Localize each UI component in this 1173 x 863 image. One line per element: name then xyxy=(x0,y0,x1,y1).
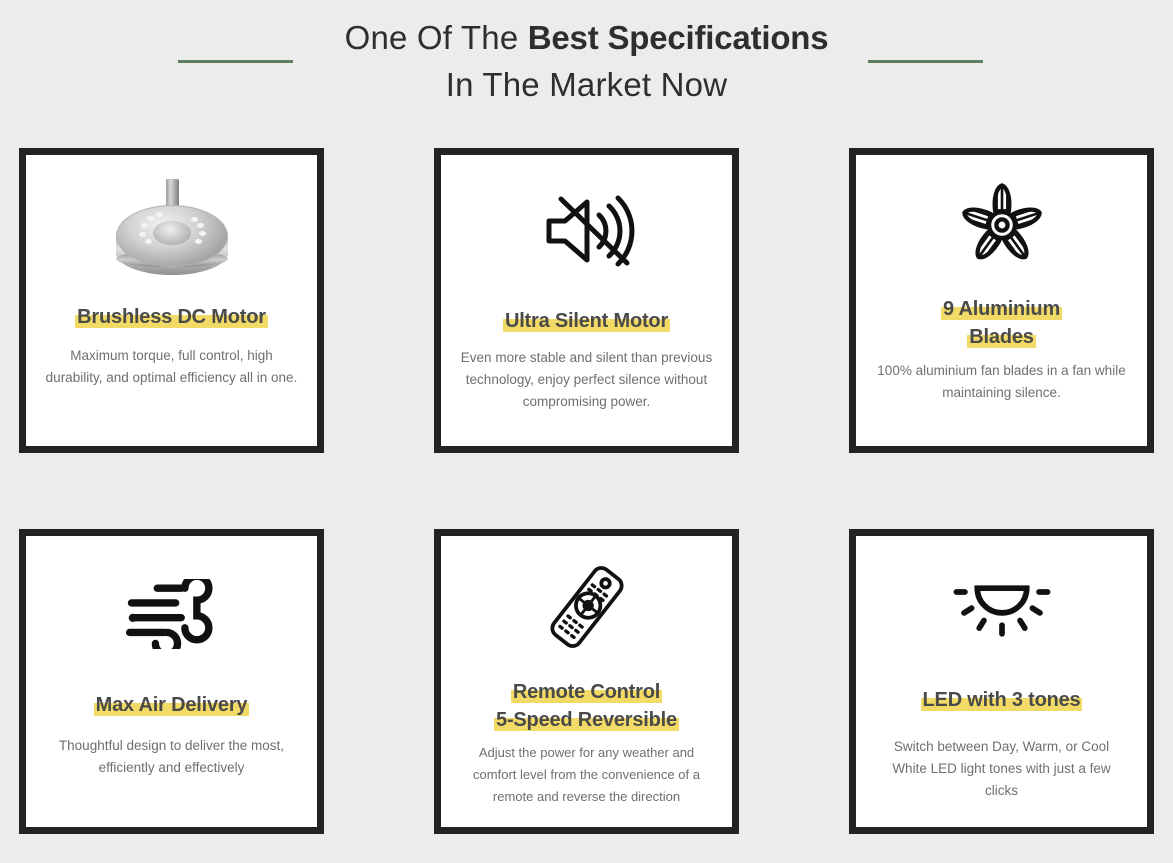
card-title-line: 5-Speed Reversible xyxy=(494,709,679,731)
card-title: LED with 3 tones xyxy=(856,686,1147,714)
spec-card-remote-control[interactable]: Remote Control 5-Speed Reversible Adjust… xyxy=(434,529,739,834)
card-title: Brushless DC Motor xyxy=(26,303,317,331)
title-line-1-bold: Best Specifications xyxy=(528,19,829,56)
spec-card-led-tones[interactable]: LED with 3 tones Switch between Day, War… xyxy=(849,529,1154,834)
decorative-rule-right xyxy=(868,60,983,63)
card-title: Ultra Silent Motor xyxy=(441,307,732,335)
title-line-1-light: One Of The xyxy=(345,19,528,56)
card-description: Maximum torque, full control, high durab… xyxy=(46,345,298,389)
card-description: Adjust the power for any weather and com… xyxy=(461,742,713,808)
card-description: Even more stable and silent than previou… xyxy=(461,347,713,413)
spec-card-ultra-silent-motor[interactable]: Ultra Silent Motor Even more stable and … xyxy=(434,148,739,453)
spec-card-max-air-delivery[interactable]: Max Air Delivery Thoughtful design to de… xyxy=(19,529,324,834)
led-light-icon xyxy=(856,536,1147,686)
specification-card-grid: Brushless DC Motor Maximum torque, full … xyxy=(0,148,1173,834)
muted-speaker-icon xyxy=(441,155,732,307)
card-title-line: Max Air Delivery xyxy=(94,694,250,716)
card-title-line: Remote Control xyxy=(511,681,662,703)
card-title-line: Ultra Silent Motor xyxy=(503,310,670,332)
card-title-line: Brushless DC Motor xyxy=(75,306,268,328)
brushless-dc-motor-photo xyxy=(26,155,317,303)
decorative-rule-left xyxy=(178,60,293,63)
card-title: Remote Control 5-Speed Reversible xyxy=(441,678,732,734)
page-title: One Of The Best Specifications xyxy=(0,14,1173,61)
card-description: 100% aluminium fan blades in a fan while… xyxy=(876,360,1128,404)
wind-airflow-icon xyxy=(26,536,317,691)
section-header: One Of The Best Specifications In The Ma… xyxy=(0,0,1173,108)
remote-control-icon xyxy=(441,536,732,678)
title-line-2: In The Market Now xyxy=(0,61,1173,108)
spec-card-aluminium-blades[interactable]: 9 Aluminium Blades 100% aluminium fan bl… xyxy=(849,148,1154,453)
card-title: 9 Aluminium Blades xyxy=(856,295,1147,351)
fan-blades-icon xyxy=(856,155,1147,295)
card-description: Switch between Day, Warm, or Cool White … xyxy=(882,736,1122,802)
card-title-line: LED with 3 tones xyxy=(921,689,1083,711)
card-title-line: Blades xyxy=(967,326,1035,348)
card-title: Max Air Delivery xyxy=(26,691,317,719)
card-title-line: 9 Aluminium xyxy=(941,298,1062,320)
spec-card-brushless-dc-motor[interactable]: Brushless DC Motor Maximum torque, full … xyxy=(19,148,324,453)
specifications-section: One Of The Best Specifications In The Ma… xyxy=(0,0,1173,863)
card-description: Thoughtful design to deliver the most, e… xyxy=(46,735,298,779)
